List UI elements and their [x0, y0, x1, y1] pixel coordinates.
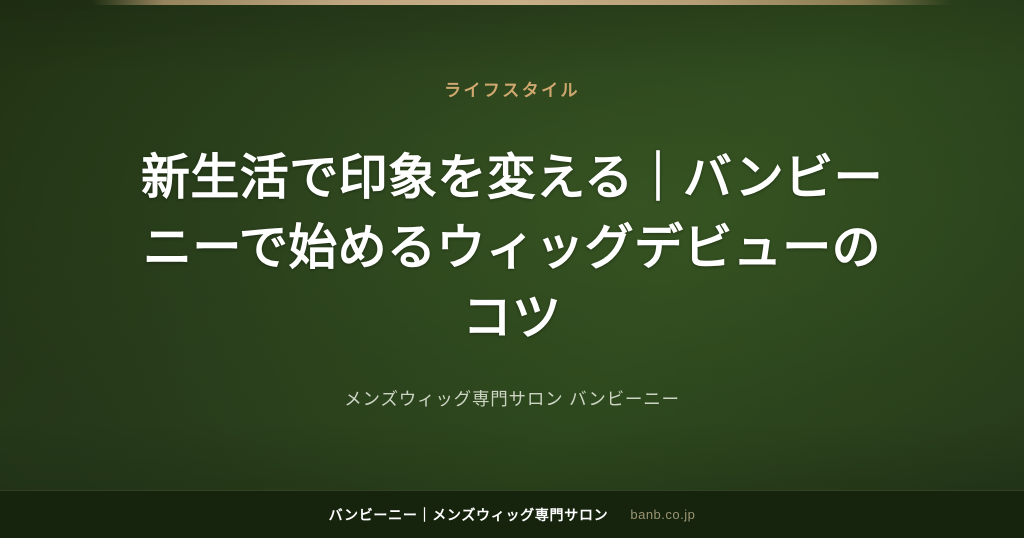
title-line-2: ニーで始めるウィッグデビューの — [143, 221, 881, 275]
page-title: 新生活で印象を変える｜バンビーニーで始めるウィッグデビューのコツ — [141, 143, 883, 353]
subtitle-text: メンズウィッグ専門サロン バンビーニー — [344, 391, 680, 409]
hero-banner: ライフスタイル 新生活で印象を変える｜バンビーニーで始めるウィッグデビューのコツ… — [0, 0, 1024, 538]
footer-url-text: banb.co.jp — [630, 508, 695, 521]
footer-brand-text: バンビーニー｜メンズウィッグ専門サロン — [329, 508, 609, 522]
footer-bar: バンビーニー｜メンズウィッグ専門サロン banb.co.jp — [0, 490, 1024, 538]
category-label: ライフスタイル — [444, 82, 580, 99]
title-line-3: コツ — [463, 291, 562, 345]
banner-content: ライフスタイル 新生活で印象を変える｜バンビーニーで始めるウィッグデビューのコツ… — [0, 0, 1024, 490]
title-line-1: 新生活で印象を変える｜バンビー — [141, 151, 883, 205]
